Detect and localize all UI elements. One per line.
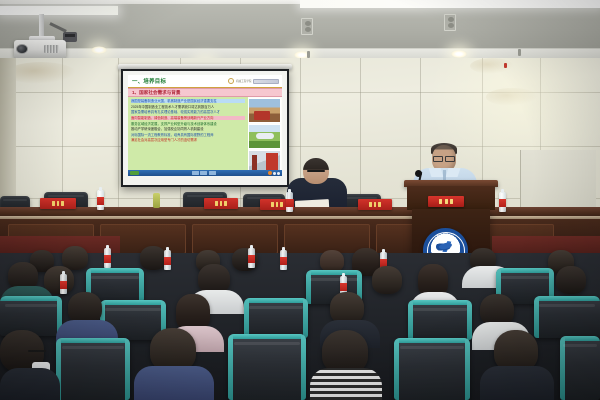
audience-head: [44, 266, 74, 294]
audience-seat: [0, 296, 62, 336]
slide-line: 面向智能制造、绿色制造、高端装备等战略新兴产业方向: [131, 116, 245, 120]
slide-line: 服务区域经济发展，支撑产业转型升级与技术创新体系建设: [131, 122, 245, 126]
table-nameplate-4: [358, 199, 392, 210]
audience-shoulders: [134, 366, 214, 400]
audience-seat: [244, 298, 308, 338]
slide-line: 推动产学研深度融合，加强校企协同育人机制建设: [131, 127, 245, 131]
green-tea-cup: [153, 193, 160, 208]
lecture-hall-scene: 一、培养目标 机械工程学院 1、国家社会需求与背景 我国是装备制造业大国，机械制…: [0, 0, 600, 400]
projector-vent-icon: [44, 45, 59, 53]
taskbar-window-icon[interactable]: [209, 171, 216, 175]
slide-line: 2025年中国制造业工程技术人才需求缺口将达到数百万人: [131, 105, 245, 109]
ceiling: [0, 0, 600, 62]
slide-title: 一、培养目标: [128, 77, 166, 85]
ceiling-light-left: [0, 6, 118, 15]
downlight-3: [451, 50, 467, 58]
taskbar-window-icon[interactable]: [200, 171, 207, 175]
slide-line: 国家急需培养具有扎实理论基础、较强实践能力的高层次人才: [131, 110, 245, 114]
water-bottle-row-1: [164, 250, 171, 270]
speaker-glasses-icon: [433, 156, 455, 160]
windows-taskbar[interactable]: [128, 170, 282, 176]
water-bottle-row-1: [104, 248, 111, 268]
microphone-icon: [415, 170, 422, 177]
presentation-slide: 一、培养目标 机械工程学院 1、国家社会需求与背景 我国是装备制造业大国，机械制…: [128, 75, 282, 176]
audience-head: [176, 294, 210, 330]
water-bottle-row-1: [248, 248, 255, 268]
speaker-collar-left: [429, 168, 444, 177]
slide-subtitle-bar: 1、国家社会需求与背景: [128, 88, 282, 97]
taskbar-items[interactable]: [192, 171, 216, 175]
slide-line: 我国是装备制造业大国，机械制造产业是国民经济重要支柱: [131, 99, 245, 103]
table-nameplate-2: [204, 198, 238, 209]
projector-mount-pole: [39, 14, 44, 38]
ceiling-vent-right: [444, 14, 456, 31]
slide-logo-icon: [228, 78, 234, 84]
audience-head: [372, 266, 402, 294]
audience-seat: [394, 338, 470, 400]
water-bottle-row-1: [280, 250, 287, 270]
water-bottle-table-3: [499, 192, 506, 212]
slide-photo-column: [248, 97, 282, 176]
slide-header: 一、培养目标 机械工程学院: [128, 75, 282, 88]
water-bottle-table-1: [97, 190, 104, 210]
slide-text-block: 我国是装备制造业大国，机械制造产业是国民经济重要支柱 2025年中国制造业工程技…: [128, 97, 248, 176]
audience-seat: [560, 336, 600, 400]
tray-icon[interactable]: [273, 172, 276, 175]
system-tray[interactable]: [268, 171, 280, 175]
audience-shoulders: [0, 368, 60, 400]
slide-logo: 机械工程学院: [228, 78, 279, 84]
panelist-glasses-icon: [307, 170, 325, 172]
screen-surface: 一、培养目标 机械工程学院 1、国家社会需求与背景 我国是装备制造业大国，机械制…: [123, 71, 287, 185]
water-bottle-row-2: [60, 274, 67, 294]
slide-line: 对标国际一流工程教育标准，培养具有国际视野的工程师: [131, 133, 245, 137]
podium-nameplate: [428, 196, 464, 207]
audience-head: [320, 250, 344, 272]
agricultural-machinery-photo: [248, 98, 281, 123]
slide-body: 我国是装备制造业大国，机械制造产业是国民经济重要支柱 2025年中国制造业工程技…: [128, 97, 282, 176]
green-field-photo: [248, 124, 281, 149]
water-bottle-table-2: [286, 192, 293, 212]
projector-lens-icon: [16, 44, 28, 54]
audience-seat: [534, 296, 600, 338]
audience-seat: [408, 300, 472, 340]
slide-line: 满足社会对高层次应用型专门人才的迫切需求: [131, 138, 245, 142]
slide-logo-banner: [253, 79, 279, 84]
audience-shoulders: [480, 366, 554, 400]
slide-logo-text: 机械工程学院: [236, 79, 252, 83]
emblem-stars-icon: ★★★★★: [423, 234, 468, 238]
projection-screen: 一、培养目标 机械工程学院 1、国家社会需求与背景 我国是装备制造业大国，机械制…: [121, 69, 289, 187]
slide-subtitle: 1、国家社会需求与背景: [128, 90, 181, 96]
ceiling-fixture-pin-2: [518, 49, 521, 56]
ceiling-light-right: [300, 0, 600, 8]
table-nameplate-1: [40, 198, 76, 209]
audience-glasses-icon: [28, 350, 46, 352]
downlight-1: [91, 46, 107, 54]
ceiling-vent-left: [301, 18, 313, 35]
taskbar-window-icon[interactable]: [192, 171, 199, 175]
audience-head: [140, 246, 166, 270]
audience-head: [556, 266, 586, 294]
tray-icon[interactable]: [277, 172, 280, 175]
audience-shoulders: [310, 368, 382, 400]
start-button-icon[interactable]: [130, 171, 139, 175]
wall-red-marker: [504, 63, 507, 68]
tray-notification-icon[interactable]: [268, 171, 272, 175]
ceiling-fixture-pin-1: [307, 51, 310, 58]
audience-seat: [228, 334, 306, 400]
audience-seat: [56, 338, 130, 400]
emblem-bird-icon: [436, 241, 456, 252]
